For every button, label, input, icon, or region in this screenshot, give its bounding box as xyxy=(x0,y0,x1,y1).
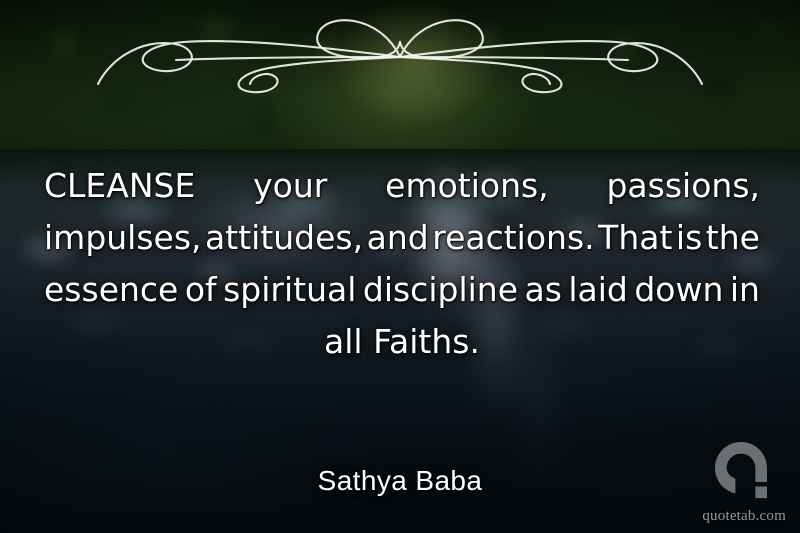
quote-word: reactions. xyxy=(432,212,594,264)
quote-text: CLEANSE your emotions, passions, impulse… xyxy=(44,160,760,368)
quote-word: That xyxy=(598,212,672,264)
quote-word: essence xyxy=(44,264,178,316)
quote-word: spiritual xyxy=(223,264,356,316)
quote-word: in xyxy=(730,264,760,316)
quote-word: laid xyxy=(568,264,628,316)
quote-word: your xyxy=(253,160,327,212)
quote-word: all xyxy=(324,316,363,368)
quote-word: Faiths. xyxy=(373,316,480,368)
quote-word: CLEANSE xyxy=(44,160,195,212)
quote-word: attitudes, xyxy=(205,212,363,264)
quote-word: the xyxy=(706,212,760,264)
quote-word: emotions, xyxy=(385,160,549,212)
quote-line: all Faiths. xyxy=(44,316,760,368)
quote-word: and xyxy=(367,212,429,264)
quote-card: CLEANSE your emotions, passions, impulse… xyxy=(0,0,800,533)
quotetab-logo-icon xyxy=(712,439,770,501)
quote-word: of xyxy=(185,264,217,316)
quote-word: discipline xyxy=(363,264,518,316)
watermark: quotetab.com xyxy=(678,439,786,525)
quote-line: essence of spiritual discipline as laid … xyxy=(44,264,760,316)
quote-word: impulses, xyxy=(44,212,202,264)
quote-word: down xyxy=(634,264,723,316)
quote-line: impulses, attitudes, and reactions. That… xyxy=(44,212,760,264)
quote-word: passions, xyxy=(606,160,760,212)
watermark-site-label: quotetab.com xyxy=(702,508,786,525)
quote-line: CLEANSE your emotions, passions, xyxy=(44,160,760,212)
quote-word: is xyxy=(676,212,702,264)
quote-word: as xyxy=(524,264,561,316)
